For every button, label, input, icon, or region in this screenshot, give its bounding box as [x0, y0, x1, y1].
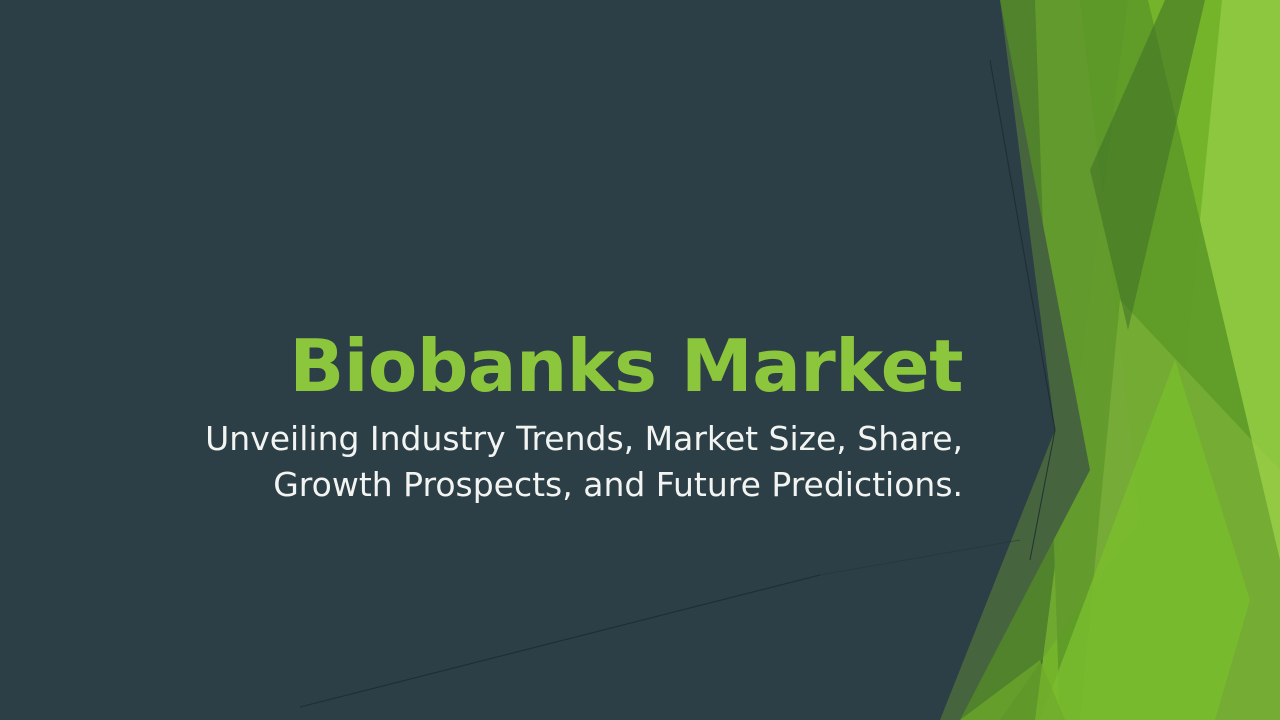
page-subtitle: Unveiling Industry Trends, Market Size, … — [120, 402, 965, 507]
page-title: Biobanks Market — [120, 330, 965, 402]
title-text-block: Biobanks Market Unveiling Industry Trend… — [120, 330, 965, 507]
presentation-slide: Biobanks Market Unveiling Industry Trend… — [0, 0, 1280, 720]
